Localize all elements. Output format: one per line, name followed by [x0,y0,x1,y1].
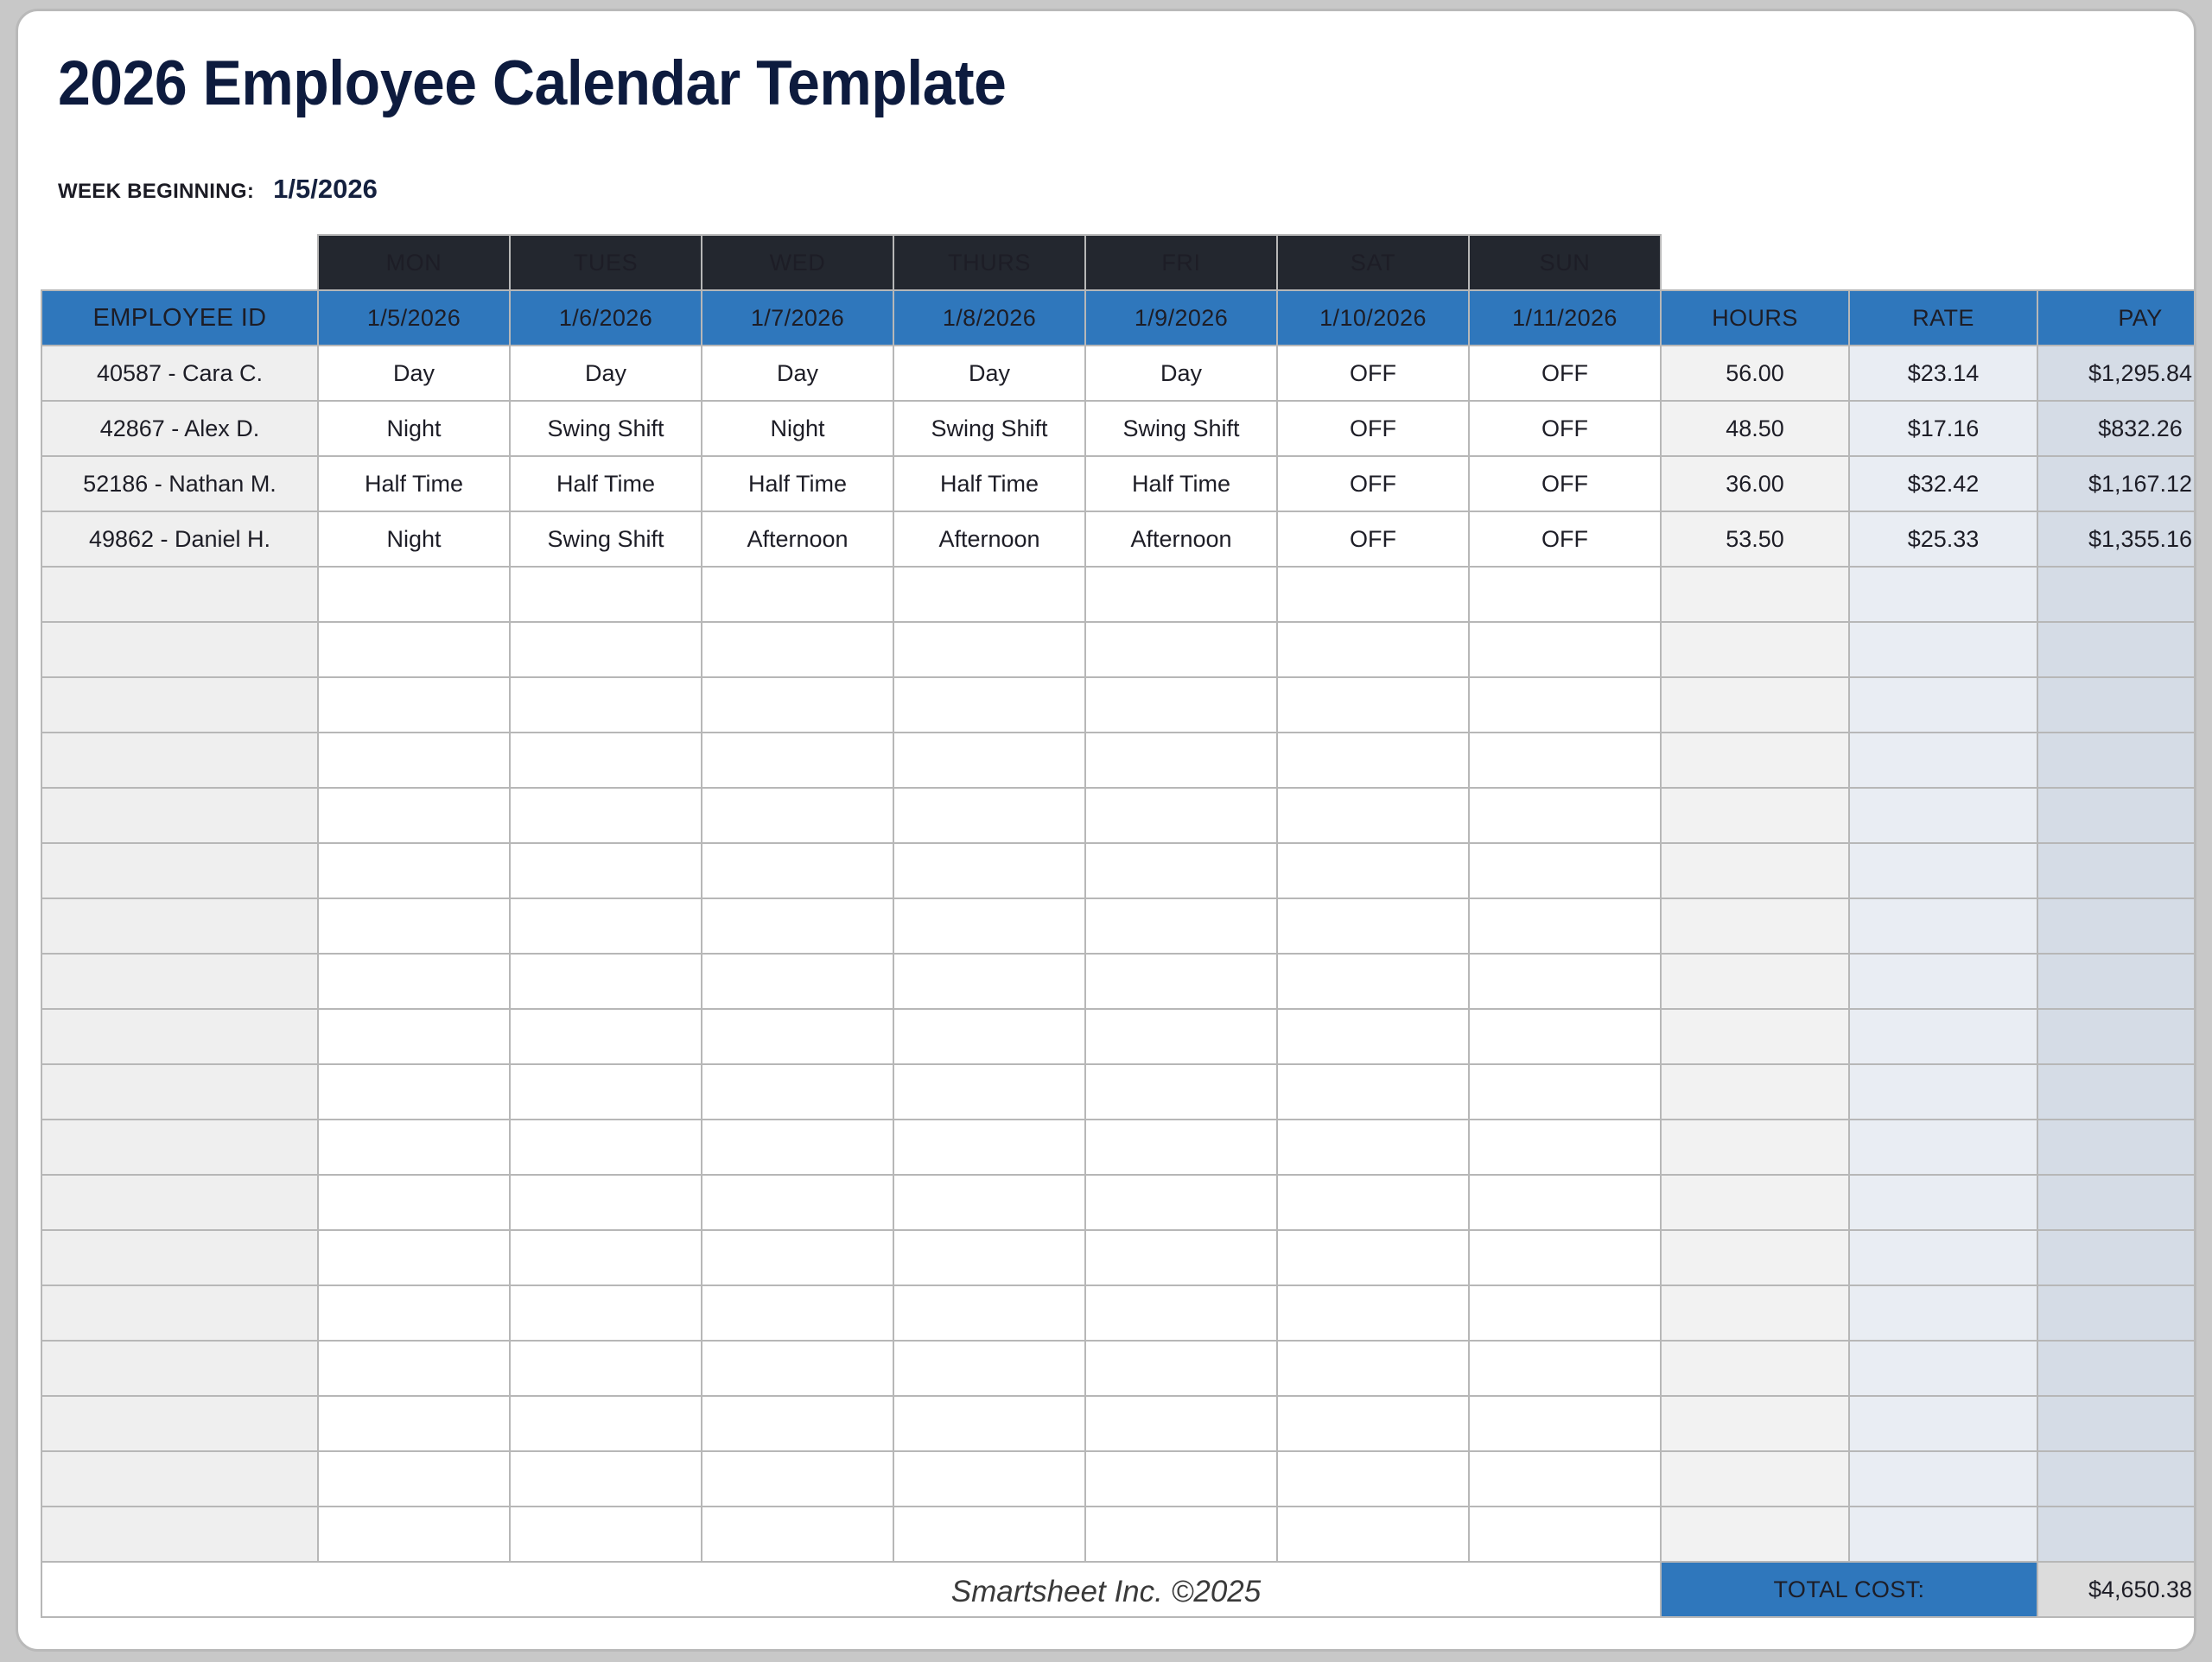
cell-shift-5[interactable] [1277,1120,1469,1175]
table-row-empty [41,788,2196,843]
day-name-header-fri: FRI [1085,235,1277,290]
cell-shift-3[interactable] [893,1120,1085,1175]
cell-shift-6[interactable] [1469,843,1661,898]
cell-shift-6[interactable] [1469,1009,1661,1064]
cell-employee-id[interactable] [41,1396,318,1451]
cell-employee-id[interactable] [41,898,318,954]
cell-hours[interactable] [1661,1396,1849,1451]
cell-pay [2037,622,2196,677]
cell-pay [2037,677,2196,733]
cell-shift-3[interactable] [893,622,1085,677]
cell-shift-5[interactable] [1277,733,1469,788]
cell-shift-0[interactable] [318,898,510,954]
cell-shift-3[interactable] [893,1396,1085,1451]
cell-hours[interactable] [1661,1009,1849,1064]
cell-shift-2[interactable] [702,788,893,843]
cell-employee-id[interactable] [41,1120,318,1175]
template-card: 2026 Employee Calendar Template WEEK BEG… [16,9,2196,1652]
cell-shift-5[interactable] [1277,1175,1469,1230]
cell-shift-1[interactable]: Swing Shift [510,401,702,456]
cell-pay: $1,295.84 [2037,346,2196,401]
cell-shift-5[interactable] [1277,843,1469,898]
cell-shift-4[interactable] [1085,1396,1277,1451]
cell-shift-0[interactable] [318,1120,510,1175]
cell-shift-5[interactable] [1277,567,1469,622]
cell-shift-0[interactable]: Night [318,401,510,456]
column-header-date-3: 1/8/2026 [893,290,1085,346]
cell-shift-4[interactable] [1085,1341,1277,1396]
cell-shift-0[interactable] [318,733,510,788]
cell-pay: $1,355.16 [2037,511,2196,567]
cell-hours[interactable] [1661,567,1849,622]
cell-shift-3[interactable] [893,1451,1085,1507]
cell-shift-3[interactable] [893,1064,1085,1120]
cell-pay [2037,1175,2196,1230]
cell-shift-1[interactable] [510,1175,702,1230]
cell-shift-1[interactable] [510,1507,702,1562]
cell-rate[interactable] [1849,677,2037,733]
table-row-empty [41,1451,2196,1507]
day-header-spacer-pay [2037,235,2196,290]
cell-shift-3[interactable] [893,1009,1085,1064]
cell-employee-id[interactable] [41,954,318,1009]
cell-shift-2[interactable] [702,954,893,1009]
cell-shift-1[interactable] [510,1451,702,1507]
cell-shift-3[interactable] [893,1230,1085,1285]
cell-shift-0[interactable] [318,1175,510,1230]
cell-employee-id[interactable] [41,677,318,733]
cell-rate[interactable] [1849,1120,2037,1175]
cell-employee-id[interactable]: 40587 - Cara C. [41,346,318,401]
table-row-empty [41,1120,2196,1175]
table-row: 52186 - Nathan M.Half TimeHalf TimeHalf … [41,456,2196,511]
cell-pay: $832.26 [2037,401,2196,456]
cell-shift-1[interactable] [510,733,702,788]
column-header-pay: PAY [2037,290,2196,346]
table-row-empty [41,1396,2196,1451]
cell-shift-5[interactable] [1277,622,1469,677]
cell-hours[interactable] [1661,1507,1849,1562]
cell-rate[interactable] [1849,1451,2037,1507]
table-row-empty [41,1009,2196,1064]
cell-employee-id[interactable] [41,733,318,788]
table-row-empty [41,954,2196,1009]
cell-shift-3[interactable] [893,567,1085,622]
cell-shift-6[interactable] [1469,898,1661,954]
cell-shift-2[interactable]: Half Time [702,456,893,511]
cell-shift-6[interactable] [1469,1507,1661,1562]
cell-shift-4[interactable]: Swing Shift [1085,401,1277,456]
week-beginning-value[interactable]: 1/5/2026 [273,174,378,205]
column-header-date-2: 1/7/2026 [702,290,893,346]
cell-shift-4[interactable] [1085,788,1277,843]
day-header-spacer-hours [1661,235,1849,290]
cell-shift-5[interactable] [1277,1285,1469,1341]
cell-shift-3[interactable] [893,1175,1085,1230]
cell-shift-2[interactable]: Night [702,401,893,456]
cell-rate[interactable] [1849,843,2037,898]
cell-shift-6[interactable] [1469,567,1661,622]
table-row-empty [41,677,2196,733]
cell-shift-4[interactable] [1085,954,1277,1009]
cell-shift-2[interactable] [702,843,893,898]
day-header-spacer-rate [1849,235,2037,290]
cell-shift-3[interactable] [893,1507,1085,1562]
table-row-empty [41,898,2196,954]
cell-shift-4[interactable] [1085,1175,1277,1230]
cell-shift-6[interactable] [1469,677,1661,733]
cell-shift-5[interactable]: OFF [1277,346,1469,401]
cell-shift-0[interactable] [318,788,510,843]
cell-shift-4[interactable] [1085,677,1277,733]
cell-rate[interactable] [1849,733,2037,788]
cell-hours[interactable]: 48.50 [1661,401,1849,456]
cell-shift-1[interactable]: Day [510,346,702,401]
column-header-date-6: 1/11/2026 [1469,290,1661,346]
cell-shift-0[interactable]: Night [318,511,510,567]
cell-rate[interactable] [1849,622,2037,677]
cell-shift-4[interactable]: Day [1085,346,1277,401]
cell-pay [2037,954,2196,1009]
cell-shift-5[interactable] [1277,954,1469,1009]
table-row-empty [41,1175,2196,1230]
cell-pay [2037,733,2196,788]
cell-rate[interactable]: $23.14 [1849,346,2037,401]
cell-shift-0[interactable] [318,677,510,733]
cell-shift-6[interactable] [1469,1120,1661,1175]
table-row-empty [41,567,2196,622]
cell-shift-1[interactable] [510,677,702,733]
cell-employee-id[interactable] [41,1064,318,1120]
cell-rate[interactable]: $25.33 [1849,511,2037,567]
cell-shift-6[interactable] [1469,1230,1661,1285]
cell-shift-3[interactable] [893,733,1085,788]
column-header-date-5: 1/10/2026 [1277,290,1469,346]
cell-rate[interactable] [1849,1396,2037,1451]
cell-shift-2[interactable] [702,622,893,677]
cell-hours[interactable] [1661,1285,1849,1341]
column-header-rate: RATE [1849,290,2037,346]
cell-employee-id[interactable]: 49862 - Daniel H. [41,511,318,567]
cell-shift-2[interactable] [702,1175,893,1230]
cell-employee-id[interactable] [41,622,318,677]
cell-shift-2[interactable] [702,898,893,954]
cell-shift-3[interactable]: Half Time [893,456,1085,511]
day-name-header-wed: WED [702,235,893,290]
cell-shift-2[interactable] [702,1341,893,1396]
cell-hours[interactable]: 53.50 [1661,511,1849,567]
cell-shift-6[interactable] [1469,788,1661,843]
cell-rate[interactable] [1849,567,2037,622]
column-header-date-0: 1/5/2026 [318,290,510,346]
cell-pay [2037,788,2196,843]
cell-shift-1[interactable] [510,1120,702,1175]
cell-pay [2037,567,2196,622]
cell-shift-4[interactable] [1085,733,1277,788]
cell-shift-3[interactable] [893,1341,1085,1396]
cell-rate[interactable] [1849,954,2037,1009]
cell-shift-1[interactable]: Swing Shift [510,511,702,567]
table-row: 49862 - Daniel H.NightSwing ShiftAfterno… [41,511,2196,567]
cell-shift-3[interactable] [893,954,1085,1009]
cell-rate[interactable] [1849,1341,2037,1396]
column-header-row: EMPLOYEE ID1/5/20261/6/20261/7/20261/8/2… [41,290,2196,346]
page-title: 2026 Employee Calendar Template [58,48,1006,119]
cell-shift-0[interactable] [318,1064,510,1120]
cell-shift-0[interactable] [318,567,510,622]
cell-pay [2037,1009,2196,1064]
cell-shift-0[interactable]: Day [318,346,510,401]
cell-shift-4[interactable] [1085,567,1277,622]
cell-shift-3[interactable]: Afternoon [893,511,1085,567]
cell-shift-1[interactable] [510,1396,702,1451]
cell-rate[interactable] [1849,1064,2037,1120]
cell-shift-4[interactable] [1085,1230,1277,1285]
table-row-empty [41,1507,2196,1562]
cell-shift-1[interactable] [510,1230,702,1285]
cell-shift-6[interactable] [1469,1451,1661,1507]
schedule-table: MONTUESWEDTHURSFRISATSUNEMPLOYEE ID1/5/2… [41,234,2196,1618]
cell-rate[interactable] [1849,898,2037,954]
cell-shift-2[interactable] [702,733,893,788]
cell-hours[interactable] [1661,1120,1849,1175]
cell-hours[interactable] [1661,1175,1849,1230]
cell-shift-6[interactable]: OFF [1469,511,1661,567]
cell-shift-6[interactable] [1469,733,1661,788]
cell-hours[interactable] [1661,1230,1849,1285]
cell-shift-3[interactable]: Swing Shift [893,401,1085,456]
cell-shift-0[interactable] [318,1009,510,1064]
cell-employee-id[interactable] [41,567,318,622]
cell-shift-2[interactable]: Day [702,346,893,401]
cell-shift-6[interactable] [1469,1175,1661,1230]
cell-shift-1[interactable] [510,843,702,898]
cell-shift-0[interactable] [318,1230,510,1285]
cell-shift-6[interactable]: OFF [1469,401,1661,456]
cell-shift-0[interactable] [318,1396,510,1451]
cell-employee-id[interactable] [41,1507,318,1562]
table-row-empty [41,1230,2196,1285]
cell-shift-6[interactable] [1469,622,1661,677]
table-row-empty [41,1064,2196,1120]
table-row-empty [41,622,2196,677]
cell-shift-4[interactable] [1085,1120,1277,1175]
cell-shift-5[interactable]: OFF [1277,401,1469,456]
day-name-header-sat: SAT [1277,235,1469,290]
table-row-empty [41,733,2196,788]
cell-employee-id[interactable] [41,788,318,843]
cell-hours[interactable] [1661,1451,1849,1507]
column-header-date-1: 1/6/2026 [510,290,702,346]
cell-rate[interactable] [1849,1175,2037,1230]
cell-shift-2[interactable] [702,1451,893,1507]
cell-rate[interactable]: $17.16 [1849,401,2037,456]
cell-shift-0[interactable] [318,1451,510,1507]
cell-pay [2037,1451,2196,1507]
cell-shift-1[interactable] [510,1341,702,1396]
cell-shift-0[interactable]: Half Time [318,456,510,511]
cell-shift-6[interactable] [1469,1064,1661,1120]
table-row-empty [41,843,2196,898]
footer-copyright: Smartsheet Inc. ©2025 [18,1575,2194,1609]
cell-pay [2037,843,2196,898]
cell-shift-6[interactable] [1469,1285,1661,1341]
cell-shift-0[interactable] [318,954,510,1009]
cell-shift-5[interactable] [1277,1341,1469,1396]
cell-hours[interactable] [1661,677,1849,733]
cell-shift-3[interactable] [893,677,1085,733]
cell-shift-0[interactable] [318,622,510,677]
cell-shift-4[interactable] [1085,1009,1277,1064]
cell-shift-3[interactable]: Day [893,346,1085,401]
cell-shift-4[interactable] [1085,843,1277,898]
cell-shift-0[interactable] [318,843,510,898]
cell-shift-0[interactable] [318,1285,510,1341]
cell-shift-4[interactable] [1085,1507,1277,1562]
cell-shift-2[interactable] [702,1009,893,1064]
cell-shift-2[interactable] [702,677,893,733]
day-name-header-thurs: THURS [893,235,1085,290]
week-beginning-label: WEEK BEGINNING: [58,180,254,204]
cell-shift-3[interactable] [893,1285,1085,1341]
day-name-header-sun: SUN [1469,235,1661,290]
cell-employee-id[interactable] [41,1451,318,1507]
cell-pay [2037,898,2196,954]
cell-employee-id[interactable] [41,1341,318,1396]
cell-hours[interactable] [1661,1341,1849,1396]
cell-shift-5[interactable] [1277,1451,1469,1507]
column-header-date-4: 1/9/2026 [1085,290,1277,346]
cell-shift-2[interactable] [702,1120,893,1175]
cell-employee-id[interactable]: 52186 - Nathan M. [41,456,318,511]
cell-hours[interactable] [1661,954,1849,1009]
day-name-header-mon: MON [318,235,510,290]
cell-shift-2[interactable] [702,1507,893,1562]
table-row-empty [41,1285,2196,1341]
cell-shift-1[interactable] [510,954,702,1009]
cell-shift-1[interactable] [510,788,702,843]
cell-shift-3[interactable] [893,843,1085,898]
cell-hours[interactable] [1661,898,1849,954]
table-row: 42867 - Alex D.NightSwing ShiftNightSwin… [41,401,2196,456]
cell-shift-1[interactable] [510,567,702,622]
cell-shift-4[interactable] [1085,1285,1277,1341]
cell-pay [2037,1396,2196,1451]
cell-shift-2[interactable] [702,1064,893,1120]
cell-employee-id[interactable] [41,1009,318,1064]
cell-shift-4[interactable] [1085,622,1277,677]
cell-shift-4[interactable]: Half Time [1085,456,1277,511]
cell-shift-5[interactable]: OFF [1277,456,1469,511]
column-header-employee-id: EMPLOYEE ID [41,290,318,346]
schedule-sheet: MONTUESWEDTHURSFRISATSUNEMPLOYEE ID1/5/2… [41,234,2171,1618]
cell-shift-6[interactable] [1469,1341,1661,1396]
cell-pay [2037,1341,2196,1396]
week-beginning: WEEK BEGINNING: 1/5/2026 [58,174,378,205]
cell-shift-6[interactable] [1469,1396,1661,1451]
cell-shift-5[interactable] [1277,677,1469,733]
cell-shift-1[interactable] [510,1009,702,1064]
cell-hours[interactable] [1661,788,1849,843]
cell-rate[interactable] [1849,1507,2037,1562]
table-row: 40587 - Cara C.DayDayDayDayDayOFFOFF56.0… [41,346,2196,401]
cell-shift-2[interactable] [702,567,893,622]
cell-shift-2[interactable]: Afternoon [702,511,893,567]
cell-shift-0[interactable] [318,1341,510,1396]
cell-shift-5[interactable]: OFF [1277,511,1469,567]
cell-shift-5[interactable] [1277,1396,1469,1451]
cell-shift-0[interactable] [318,1507,510,1562]
cell-shift-5[interactable] [1277,1064,1469,1120]
day-name-header-tues: TUES [510,235,702,290]
cell-employee-id[interactable] [41,843,318,898]
cell-shift-2[interactable] [702,1285,893,1341]
table-row-empty [41,1341,2196,1396]
day-name-header-row: MONTUESWEDTHURSFRISATSUN [41,235,2196,290]
cell-shift-2[interactable] [702,1396,893,1451]
cell-shift-6[interactable]: OFF [1469,346,1661,401]
cell-shift-5[interactable] [1277,1009,1469,1064]
cell-hours[interactable] [1661,1064,1849,1120]
cell-employee-id[interactable]: 42867 - Alex D. [41,401,318,456]
cell-rate[interactable] [1849,1230,2037,1285]
cell-shift-1[interactable]: Half Time [510,456,702,511]
cell-pay [2037,1064,2196,1120]
cell-shift-4[interactable] [1085,1451,1277,1507]
cell-shift-6[interactable]: OFF [1469,456,1661,511]
cell-shift-1[interactable] [510,1285,702,1341]
cell-shift-4[interactable] [1085,1064,1277,1120]
cell-rate[interactable] [1849,1285,2037,1341]
cell-pay [2037,1507,2196,1562]
cell-pay: $1,167.12 [2037,456,2196,511]
cell-rate[interactable] [1849,1009,2037,1064]
cell-shift-5[interactable] [1277,788,1469,843]
cell-shift-5[interactable] [1277,898,1469,954]
cell-hours[interactable]: 56.00 [1661,346,1849,401]
cell-employee-id[interactable] [41,1285,318,1341]
cell-shift-3[interactable] [893,788,1085,843]
cell-employee-id[interactable] [41,1175,318,1230]
cell-hours[interactable] [1661,733,1849,788]
cell-hours[interactable] [1661,622,1849,677]
column-header-hours: HOURS [1661,290,1849,346]
cell-shift-6[interactable] [1469,954,1661,1009]
cell-rate[interactable]: $32.42 [1849,456,2037,511]
cell-shift-4[interactable]: Afternoon [1085,511,1277,567]
cell-shift-4[interactable] [1085,898,1277,954]
cell-shift-1[interactable] [510,1064,702,1120]
cell-employee-id[interactable] [41,1230,318,1285]
cell-hours[interactable] [1661,843,1849,898]
cell-hours[interactable]: 36.00 [1661,456,1849,511]
cell-rate[interactable] [1849,788,2037,843]
cell-pay [2037,1230,2196,1285]
cell-shift-2[interactable] [702,1230,893,1285]
cell-shift-1[interactable] [510,622,702,677]
cell-pay [2037,1285,2196,1341]
cell-pay [2037,1120,2196,1175]
cell-shift-5[interactable] [1277,1507,1469,1562]
day-header-spacer [41,235,318,290]
cell-shift-3[interactable] [893,898,1085,954]
cell-shift-1[interactable] [510,898,702,954]
cell-shift-5[interactable] [1277,1230,1469,1285]
